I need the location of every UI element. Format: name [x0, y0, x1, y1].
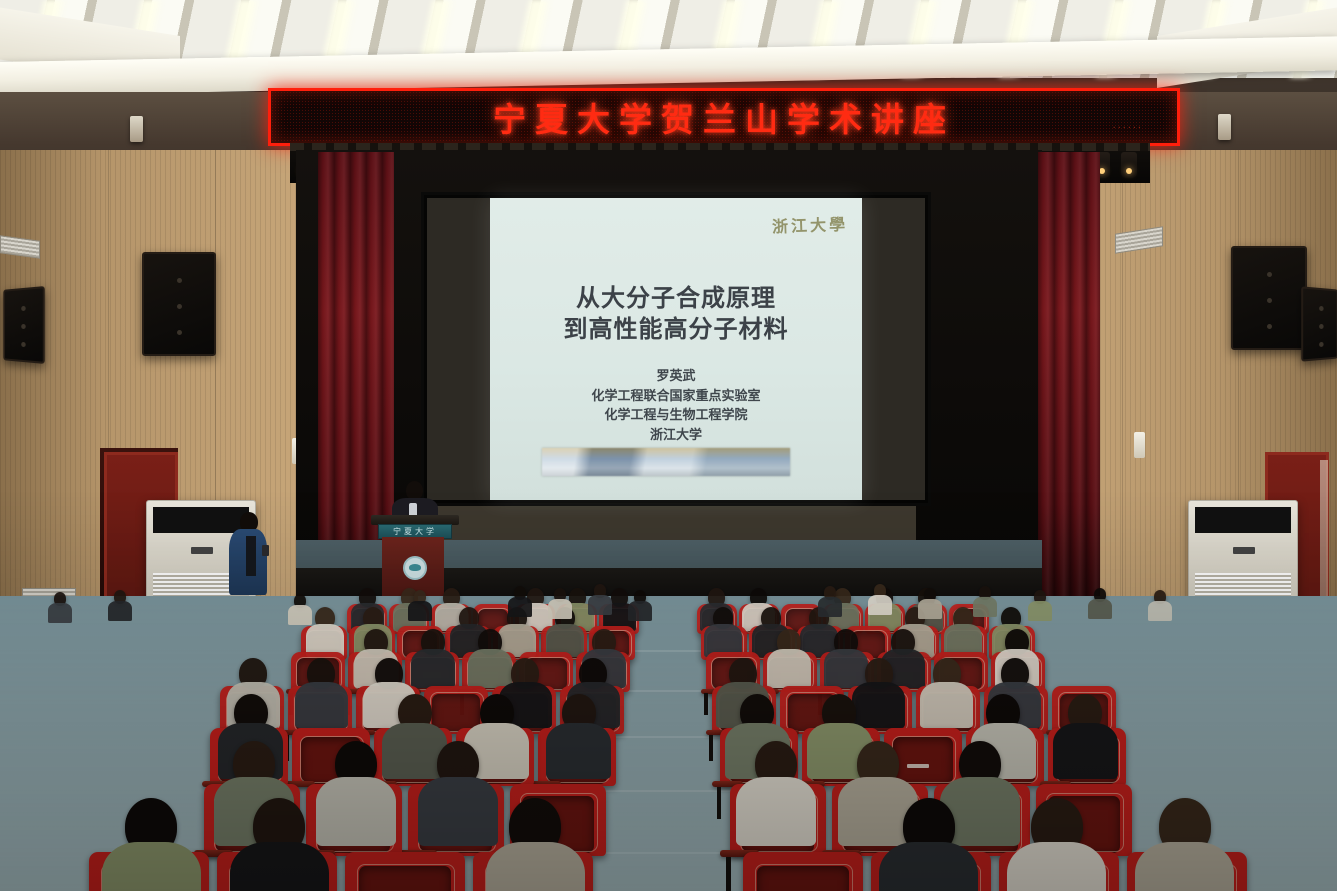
- audience-torso: [973, 597, 997, 617]
- audience-torso: [295, 682, 348, 728]
- auditorium-seat[interactable]: [345, 852, 465, 891]
- audience-torso: [1007, 842, 1106, 891]
- audience-torso: [628, 601, 652, 621]
- audience-torso: [1148, 601, 1172, 621]
- audience-torso: [1088, 599, 1112, 619]
- audience-torso: [418, 777, 497, 846]
- audience-torso: [852, 682, 905, 728]
- audience-torso: [588, 595, 612, 615]
- audience-torso: [102, 842, 201, 891]
- seat-leg: [704, 693, 708, 715]
- audience-torso: [468, 649, 513, 688]
- audience-torso: [920, 682, 973, 728]
- audience-torso: [486, 842, 585, 891]
- audience-torso: [48, 603, 72, 623]
- seat-piping: [755, 864, 853, 891]
- audience-torso: [230, 842, 329, 891]
- audience-torso: [546, 723, 610, 779]
- audience-torso: [316, 777, 395, 846]
- audience-torso: [108, 601, 132, 621]
- audience-torso: [408, 601, 432, 621]
- auditorium-photo: 宁夏大学贺兰山学术讲座: [0, 0, 1337, 891]
- audience-torso: [411, 649, 456, 688]
- auditorium-seat[interactable]: [743, 852, 863, 891]
- audience-torso: [879, 842, 978, 891]
- audience-torso: [1028, 601, 1052, 621]
- seat-leg: [717, 787, 721, 819]
- audience-torso: [918, 599, 942, 619]
- audience-torso: [868, 595, 892, 615]
- audience-torso: [1053, 723, 1117, 779]
- audience-torso: [548, 599, 572, 619]
- seating-area: [0, 0, 1337, 891]
- seat-number-tag: [907, 764, 929, 768]
- audience-torso: [824, 649, 869, 688]
- audience-torso: [818, 597, 842, 617]
- seat-piping: [892, 736, 956, 783]
- seat-piping: [357, 864, 455, 891]
- audience-torso: [508, 597, 532, 617]
- audience-torso: [288, 605, 312, 625]
- audience-torso: [767, 649, 812, 688]
- seat-leg: [709, 735, 713, 761]
- audience-torso: [1135, 842, 1234, 891]
- audience-torso: [736, 777, 815, 846]
- seat-leg: [726, 857, 731, 891]
